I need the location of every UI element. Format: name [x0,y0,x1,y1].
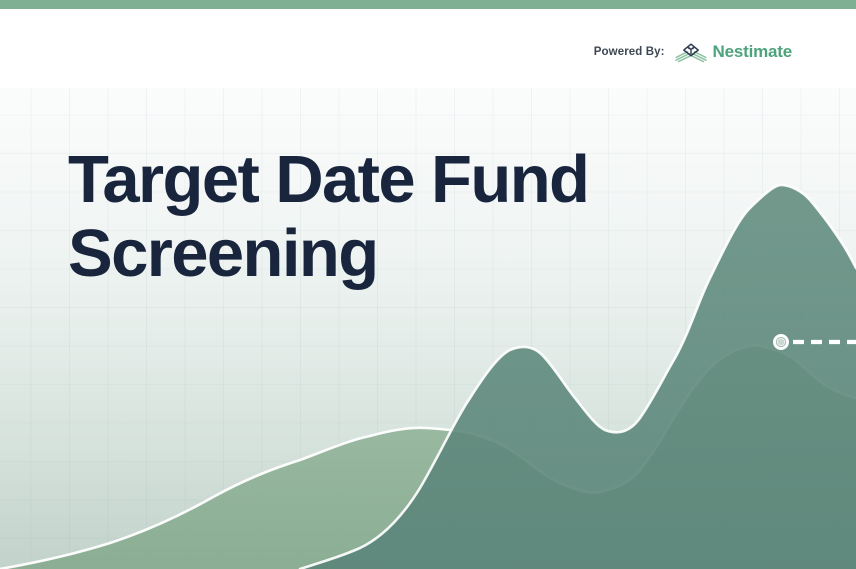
brand-name-wordmark: Nestimate [713,42,792,62]
slide-canvas: Target Date Fund Screening [0,88,856,569]
page-title: Target Date Fund Screening [68,143,768,292]
page-title-line-2: Screening [68,217,768,291]
title-slide: Powered By: [0,0,856,569]
top-accent-bar [0,0,856,9]
powered-by-lockup: Powered By: [594,41,792,63]
data-point-marker[interactable] [773,334,789,350]
powered-by-label: Powered By: [594,46,665,58]
page-title-line-1: Target Date Fund [68,143,768,217]
nestimate-lotus-logo-icon [674,41,708,63]
brand-lockup: Nestimate [674,41,792,63]
